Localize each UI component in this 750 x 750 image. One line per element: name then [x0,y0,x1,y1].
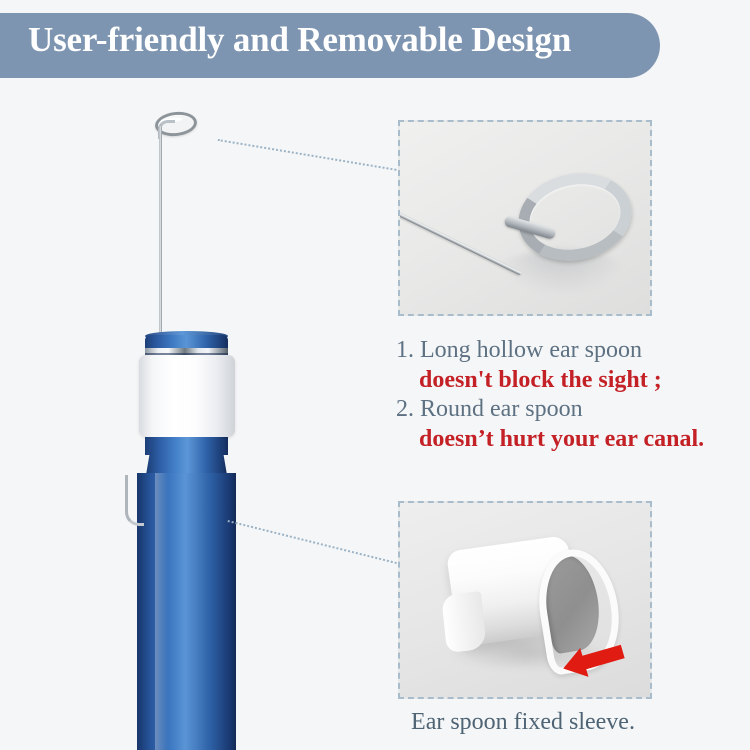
feature-item-1-text: Long hollow ear spoon [420,337,642,363]
product-marketing-image: User-friendly and Removable Design 1. Lo… [0,0,750,750]
product-photo [0,90,380,750]
inset-photo-fixed-sleeve [398,501,652,699]
feature-item-2-highlight: doesn’t hurt your ear canal. [396,424,746,454]
feature-item-1-label: 1. Long hollow ear spoon [396,336,746,365]
inset-caption-fixed-sleeve: Ear spoon fixed sleeve. [398,709,648,736]
feature-item-1-number: 1. [396,337,414,363]
inset-photo-ear-spoon-loop [398,120,652,316]
page-title: User-friendly and Removable Design [28,20,668,60]
feature-list: 1. Long hollow ear spoon doesn't block t… [396,336,746,454]
metal-pocket-clip [125,475,144,526]
barrel-shoulder [146,437,227,475]
white-fixed-sleeve [139,355,235,437]
feature-item-2-label: 2. Round ear spoon [396,395,746,424]
lower-blue-grip-body [137,473,236,750]
feature-item-2-number: 2. [396,396,414,422]
sleeve-bottom-lip [441,591,487,653]
feature-item-2-text: Round ear spoon [420,396,583,422]
feature-item-1-highlight: doesn't block the sight ; [396,365,746,395]
